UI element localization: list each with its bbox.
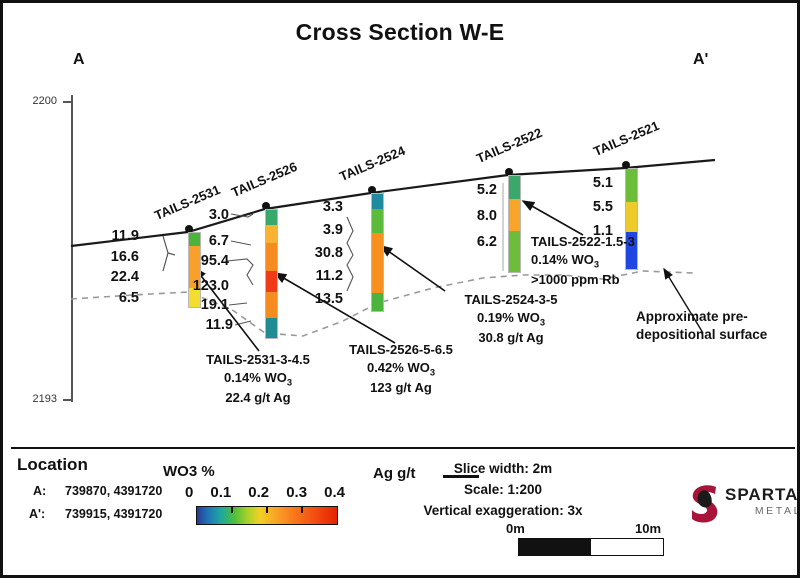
ag-value: 5.2 [455, 182, 497, 198]
ag-value: 123.0 [167, 278, 229, 294]
assay-segment [509, 231, 520, 272]
location-a-key: A: [33, 484, 46, 498]
ag-value: 6.5 [91, 290, 139, 306]
assay-segment [509, 199, 520, 231]
callout-line-2: 0.42% WO3 [301, 359, 501, 379]
assay-segment [372, 233, 383, 294]
wo3-tick: 0.1 [210, 484, 231, 501]
drillhole-label: TAILS-2521 [591, 118, 661, 159]
wo3-colorbar [196, 506, 338, 525]
ag-value: 5.5 [571, 199, 613, 215]
callout-line-2: 0.19% WO3 [421, 309, 601, 329]
drillhole-label: TAILS-2526 [229, 159, 299, 200]
scalebar-filled-half [519, 539, 591, 555]
company-logo: SPARTAN METALS [685, 481, 725, 532]
axis-label-bottom: 2193 [11, 393, 57, 405]
wo3-tick: 0.3 [286, 484, 307, 501]
callout-tails-2524: TAILS-2524-3-5 0.19% WO3 30.8 g/t Ag [421, 291, 601, 346]
location-a-value: 739870, 4391720 [65, 484, 162, 498]
wo3-tick: 0.4 [324, 484, 345, 501]
assay-segment [266, 225, 277, 243]
drillhole-label: TAILS-2522 [474, 125, 544, 166]
callout-tails-2522: TAILS-2522-1.5-3 0.14% WO3 >1000 ppm Rb [531, 233, 711, 288]
wo3-tick: 0.2 [248, 484, 269, 501]
page-title: Cross Section W-E [3, 19, 797, 46]
spartan-helmet-icon [685, 481, 725, 527]
ag-value: 6.2 [455, 234, 497, 250]
legend-location-title: Location [17, 455, 88, 475]
location-ap-value: 739915, 4391720 [65, 507, 162, 521]
ag-value: 3.0 [185, 207, 229, 223]
assay-segment [266, 318, 277, 338]
ag-value: 3.9 [299, 222, 343, 238]
elevation-axis [71, 95, 73, 402]
callout-line-1: TAILS-2524-3-5 [421, 291, 601, 309]
logo-subtitle: METALS [725, 505, 800, 517]
scalebar-min-label: 0m [506, 521, 525, 536]
section-start-marker: A [73, 51, 85, 69]
assay-bar[interactable] [371, 193, 384, 312]
assay-segment [266, 292, 277, 318]
wo3-colorbar-notch [231, 507, 233, 513]
assay-bar[interactable] [265, 209, 278, 339]
assay-segment [626, 169, 637, 202]
assay-segment [626, 202, 637, 232]
scalebar-max-label: 10m [635, 521, 661, 536]
ag-value: 95.4 [173, 253, 229, 269]
callout-line-3: 123 g/t Ag [301, 379, 501, 397]
assay-segment [266, 271, 277, 291]
legend-divider [11, 447, 795, 449]
callout-line-1: TAILS-2522-1.5-3 [531, 233, 711, 251]
ag-value: 5.1 [571, 175, 613, 191]
callout-line-3: >1000 ppm Rb [531, 271, 711, 289]
ag-value: 30.8 [289, 245, 343, 261]
slice-width-text: Slice width: 2m [368, 461, 638, 476]
assay-segment [266, 210, 277, 225]
ag-value: 6.7 [185, 233, 229, 249]
scalebar-empty-half [591, 539, 663, 555]
assay-segment [266, 243, 277, 271]
logo-name: SPARTAN [725, 485, 800, 505]
collar-marker [622, 161, 630, 169]
axis-tick-bottom [63, 399, 72, 401]
ag-value: 13.5 [297, 291, 343, 307]
scale-text: Scale: 1:200 [368, 482, 638, 497]
ag-value: 19.1 [183, 297, 229, 313]
ag-value: 11.2 [297, 268, 343, 284]
assay-segment [372, 194, 383, 209]
scale-bar [518, 538, 664, 556]
axis-label-top: 2200 [11, 95, 57, 107]
axis-tick-top [63, 101, 72, 103]
assay-segment [372, 293, 383, 311]
wo3-legend-title: WO3 % [163, 463, 215, 480]
wo3-legend-ticks: 0 0.1 0.2 0.3 0.4 [185, 484, 345, 501]
location-ap-key: A': [29, 507, 45, 521]
assay-bar[interactable] [508, 175, 521, 273]
section-end-marker: A' [693, 51, 708, 69]
pre-depositional-surface-note: Approximate pre-depositional surface [636, 308, 786, 344]
vertical-exaggeration-text: Vertical exaggeration: 3x [368, 503, 638, 518]
callout-arrow-2524 [381, 246, 445, 291]
wo3-colorbar-notch [301, 507, 303, 513]
callout-line-3: 30.8 g/t Ag [421, 329, 601, 347]
drillhole-label: TAILS-2524 [337, 143, 407, 184]
callout-line-2: 0.14% WO3 [531, 251, 711, 271]
ag-value: 11.9 [91, 228, 139, 244]
logo-wordmark: SPARTAN METALS [725, 485, 800, 517]
assay-segment [509, 176, 520, 199]
ag-value: 22.4 [91, 269, 139, 285]
ag-value: 8.0 [455, 208, 497, 224]
callout-tails-2526: TAILS-2526-5-6.5 0.42% WO3 123 g/t Ag [301, 341, 501, 396]
wo3-tick: 0 [185, 484, 193, 501]
ag-value: 16.6 [91, 249, 139, 265]
wo3-colorbar-notch [266, 507, 268, 513]
cross-section-figure: Cross Section W-E 2200 2193 A A' [0, 0, 800, 578]
ag-value: 11.9 [187, 317, 233, 333]
ag-value: 3.3 [299, 199, 343, 215]
assay-segment [372, 209, 383, 232]
